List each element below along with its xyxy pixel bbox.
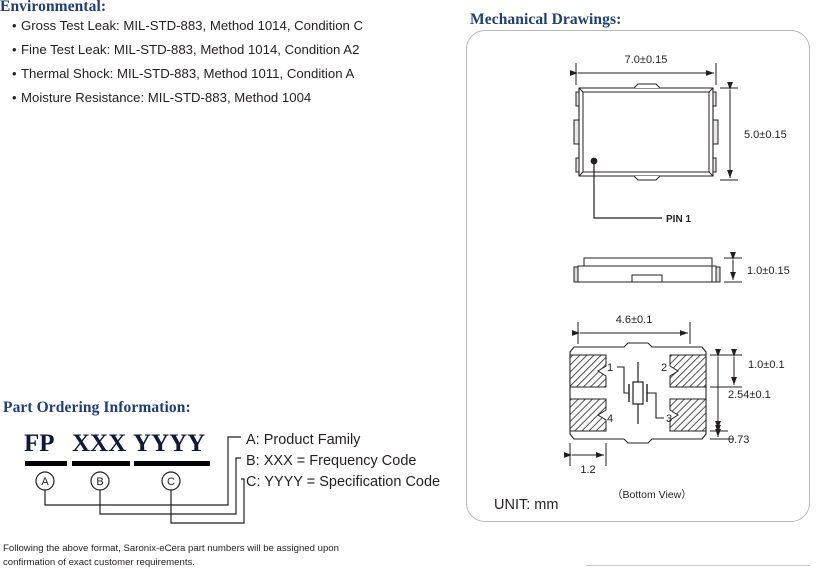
mechanical-drawings-figure: 7.0±0.15 5.0±0.15 PIN 1 <box>466 30 810 522</box>
bottom-divider <box>586 565 810 566</box>
side-view-package <box>574 258 720 282</box>
list-item-label: Moisture Resistance: MIL-STD-883, Method… <box>21 86 311 110</box>
top-view-width-label: 7.0±0.15 <box>625 54 668 66</box>
code-underline-a <box>25 461 67 466</box>
code-underline-c <box>134 461 210 466</box>
top-view-height-label: 5.0±0.15 <box>744 129 787 141</box>
list-item: • Fine Test Leak: MIL-STD-883, Method 10… <box>12 38 442 62</box>
code-underline-b <box>72 461 130 466</box>
list-item-label: Gross Test Leak: MIL-STD-883, Method 101… <box>21 14 363 38</box>
bullet-icon: • <box>12 38 21 62</box>
pin-number-3: 3 <box>666 413 672 425</box>
bottom-view-pad-width-label: 1.2 <box>580 464 595 476</box>
side-view-thickness-label: 1.0±0.15 <box>747 265 790 277</box>
bottom-view-pad-height-label: 1.0±0.1 <box>748 359 785 371</box>
bottom-view-edge-label: 0.73 <box>728 434 749 446</box>
pin-number-1: 1 <box>607 362 613 374</box>
list-item: • Thermal Shock: MIL-STD-883, Method 101… <box>12 62 442 86</box>
footnote-line-2: confirmation of exact customer requireme… <box>3 556 339 569</box>
environmental-list: • Gross Test Leak: MIL-STD-883, Method 1… <box>12 14 442 110</box>
bottom-view-width-dimension: 4.6±0.1 <box>578 314 690 344</box>
code-marker-c: C <box>162 472 180 490</box>
mechanical-drawings-heading: Mechanical Drawings: <box>470 11 621 29</box>
bullet-icon: • <box>12 14 21 38</box>
part-ordering-footnote: Following the above format, Saronix-eCer… <box>3 542 339 569</box>
bottom-view-pitch-label: 2.54±0.1 <box>728 389 771 401</box>
list-item: • Moisture Resistance: MIL-STD-883, Meth… <box>12 86 442 110</box>
code-marker-b: B <box>91 472 109 490</box>
part-ordering-legend-c: C: YYYY = Specification Code <box>246 472 440 493</box>
pin-number-4: 4 <box>607 413 613 425</box>
part-ordering-legend-b: B: XXX = Frequency Code <box>246 451 416 472</box>
footnote-line-1: Following the above format, Saronix-eCer… <box>3 542 339 556</box>
bottom-view-caption: （Bottom View） <box>612 487 692 502</box>
side-view-thickness-dimension: 1.0±0.15 <box>724 258 790 282</box>
top-view-width-dimension: 7.0±0.15 <box>576 54 716 85</box>
unit-label: UNIT: mm <box>494 497 558 513</box>
code-marker-a-label: A <box>41 476 49 488</box>
bullet-icon: • <box>12 62 21 86</box>
part-ordering-heading: Part Ordering Information: <box>3 399 191 417</box>
part-ordering-legend-a: A: Product Family <box>246 430 360 451</box>
top-view-package <box>574 84 718 180</box>
bottom-view-pad-height-dimension: 1.0±0.1 <box>710 355 785 387</box>
top-view-height-dimension: 5.0±0.15 <box>720 88 787 180</box>
bottom-view-width-label: 4.6±0.1 <box>616 314 653 326</box>
code-marker-b-label: B <box>96 476 103 488</box>
bullet-icon: • <box>12 86 21 110</box>
list-item: • Gross Test Leak: MIL-STD-883, Method 1… <box>12 14 442 38</box>
bottom-view-pad-width-dimension: 1.2 <box>570 443 606 476</box>
leader-line-a <box>45 437 241 505</box>
bottom-view-edge-dimension: 0.73 <box>710 433 749 446</box>
list-item-label: Fine Test Leak: MIL-STD-883, Method 1014… <box>21 38 359 62</box>
code-marker-a: A <box>36 472 54 490</box>
pin-number-2: 2 <box>661 362 667 374</box>
code-marker-c-label: C <box>167 476 175 488</box>
leader-line-c <box>171 479 244 523</box>
list-item-label: Thermal Shock: MIL-STD-883, Method 1011,… <box>21 62 354 86</box>
pin1-label: PIN 1 <box>666 214 691 225</box>
